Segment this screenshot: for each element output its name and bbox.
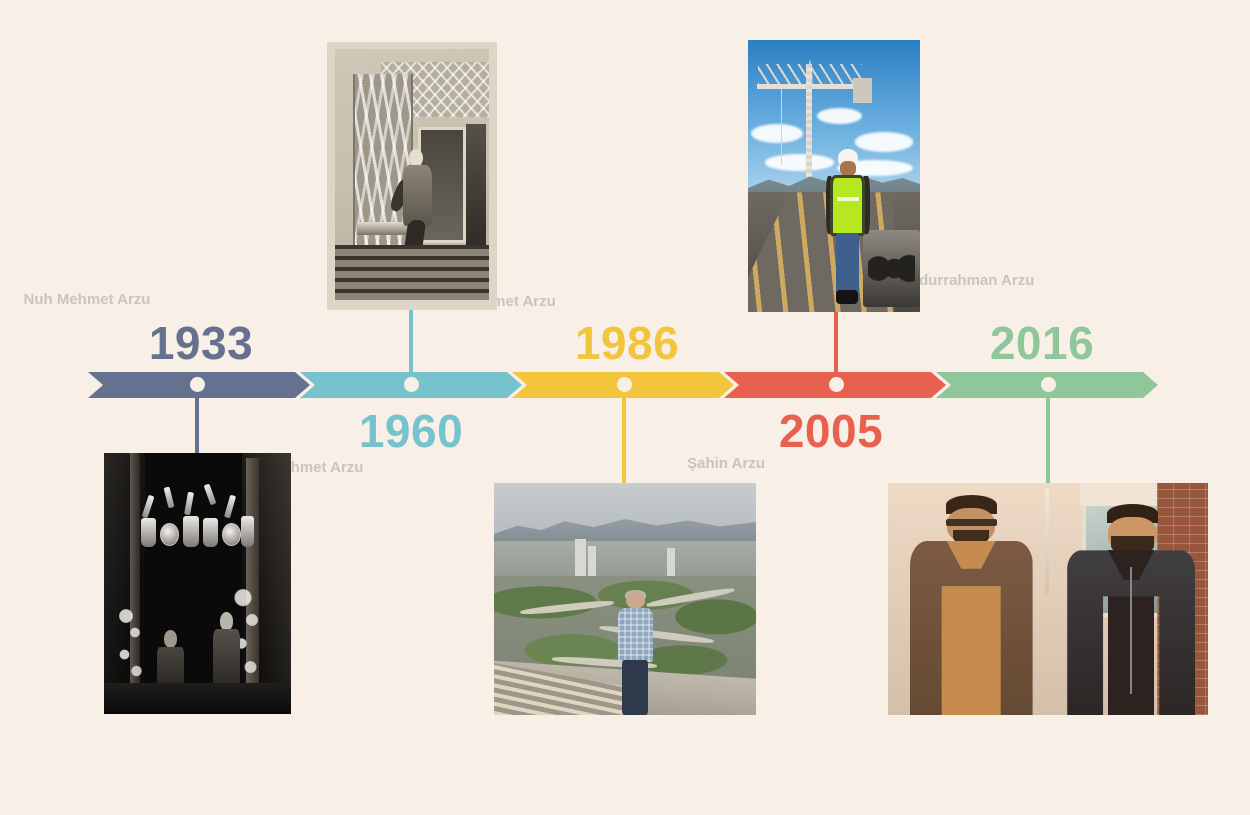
photo-image-1933 <box>104 453 291 714</box>
hanging-pot <box>141 518 156 547</box>
milestone-year-2005: 2005 <box>779 408 883 454</box>
connector-line-2016 <box>1046 384 1050 483</box>
milestone-year-1960: 1960 <box>359 408 463 454</box>
hanging-pot <box>241 516 254 547</box>
milestone-person-1933: Nuh Mehmet Arzu <box>0 290 197 310</box>
connector-line-2005 <box>834 312 838 382</box>
photo-warm-tone-overlay <box>888 483 1208 715</box>
connector-line-1933 <box>195 384 199 453</box>
hanging-item <box>224 494 236 518</box>
photo-image-2016 <box>888 483 1208 715</box>
connector-line-1986 <box>622 384 626 483</box>
person-trousers <box>622 660 648 715</box>
photo-tower-block <box>588 546 596 578</box>
photo-image-1960 <box>335 49 489 300</box>
photo-image-2005 <box>748 40 920 312</box>
milestone-photo-2005: Construction worker in a yellow high-vis… <box>748 40 920 312</box>
timeline-node-1933[interactable] <box>190 377 205 392</box>
person-shirt <box>618 608 653 662</box>
crane-mast <box>806 64 811 189</box>
photo-cityscape <box>494 541 756 580</box>
photo-material-stack <box>863 230 920 306</box>
photo-grain <box>335 49 489 300</box>
milestone-photo-1933: Black and white photo of a tinsmith work… <box>104 453 291 714</box>
photo-tower-block <box>575 539 585 578</box>
hanging-item <box>203 484 215 506</box>
worker-hi-vis-vest <box>830 175 865 236</box>
photo-worker <box>829 149 867 301</box>
person-name-2005: Şahin Arzu <box>616 454 836 474</box>
hanging-pot <box>203 518 218 547</box>
timeline-node-2005[interactable] <box>829 377 844 392</box>
photo-person <box>617 592 654 713</box>
photo-image-1986 <box>494 483 756 715</box>
crane-hook-line <box>781 89 782 165</box>
person-head <box>220 612 234 631</box>
timeline-node-1986[interactable] <box>617 377 632 392</box>
timeline-infographic: Sepia photograph of a man seated on a le… <box>0 0 1250 815</box>
crane-counterweight <box>853 78 872 102</box>
photo-tower-block <box>667 548 675 578</box>
worker-face <box>840 161 856 176</box>
person-head <box>164 630 177 648</box>
milestone-photo-2016: Two smiling men standing in front of a b… <box>888 483 1208 715</box>
worker-boots <box>836 290 857 304</box>
photo-floor <box>104 683 291 714</box>
milestone-year-1986: 1986 <box>575 320 679 366</box>
connector-line-1960 <box>409 310 413 382</box>
milestone-year-2016: 2016 <box>990 320 1094 366</box>
hanging-pan <box>160 523 179 546</box>
milestone-photo-1960: Sepia photograph of a man seated on a le… <box>327 42 497 310</box>
hanging-item <box>163 487 173 509</box>
person-name-1933: Nuh Mehmet Arzu <box>0 290 197 310</box>
hanging-item <box>184 492 194 516</box>
hanging-pot <box>183 516 200 547</box>
timeline-node-2016[interactable] <box>1041 377 1056 392</box>
milestone-year-1933: 1933 <box>149 320 253 366</box>
person-head <box>626 592 645 609</box>
milestone-photo-1986: Man standing on a rooftop under construc… <box>494 483 756 715</box>
cloud-icon <box>817 108 862 124</box>
hanging-pan <box>222 523 241 546</box>
milestone-person-2005: Şahin Arzu <box>616 454 836 474</box>
cloud-icon <box>765 154 834 170</box>
timeline-node-1960[interactable] <box>404 377 419 392</box>
